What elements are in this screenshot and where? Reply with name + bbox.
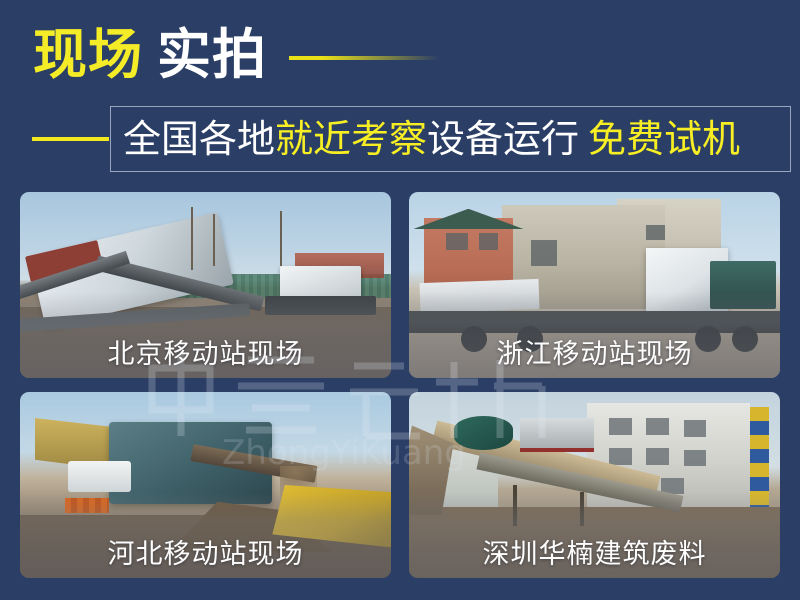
subheadline-segment-3: 设备运行	[427, 119, 579, 159]
gallery-item-shenzhen[interactable]: 深圳华楠建筑废料	[409, 392, 780, 578]
page-title-part1: 现场	[33, 27, 143, 83]
page-title-part2: 实拍	[157, 27, 267, 83]
subheadline-box: 全国各地 就近考察 设备运行 免费试机	[110, 106, 791, 172]
gallery-item-beijing[interactable]: 北京移动站现场	[20, 192, 391, 378]
subheadline-segment-4: 免费试机	[588, 119, 740, 159]
promo-banner: ZhongYiKuang 现场 实拍 全国各地 就近考察 设备运行 免费试机	[0, 0, 800, 600]
page-title: 现场 实拍	[33, 24, 439, 86]
subheadline-text: 全国各地 就近考察 设备运行 免费试机	[111, 119, 740, 159]
gallery-item-caption: 浙江移动站现场	[409, 340, 780, 370]
site-photo-gallery: 北京移动站现场	[20, 192, 780, 578]
horizontal-rule-icon	[32, 137, 109, 141]
horizontal-rule-icon	[289, 56, 439, 60]
subheadline-segment-1: 全国各地	[123, 119, 275, 159]
gallery-item-caption: 河北移动站现场	[20, 540, 391, 570]
gallery-item-caption: 深圳华楠建筑废料	[409, 540, 780, 570]
gallery-item-hebei[interactable]: 河北移动站现场	[20, 392, 391, 578]
gallery-item-zhejiang[interactable]: 浙江移动站现场	[409, 192, 780, 378]
subheadline-segment-2: 就近考察	[275, 119, 427, 159]
gallery-item-caption: 北京移动站现场	[20, 340, 391, 370]
